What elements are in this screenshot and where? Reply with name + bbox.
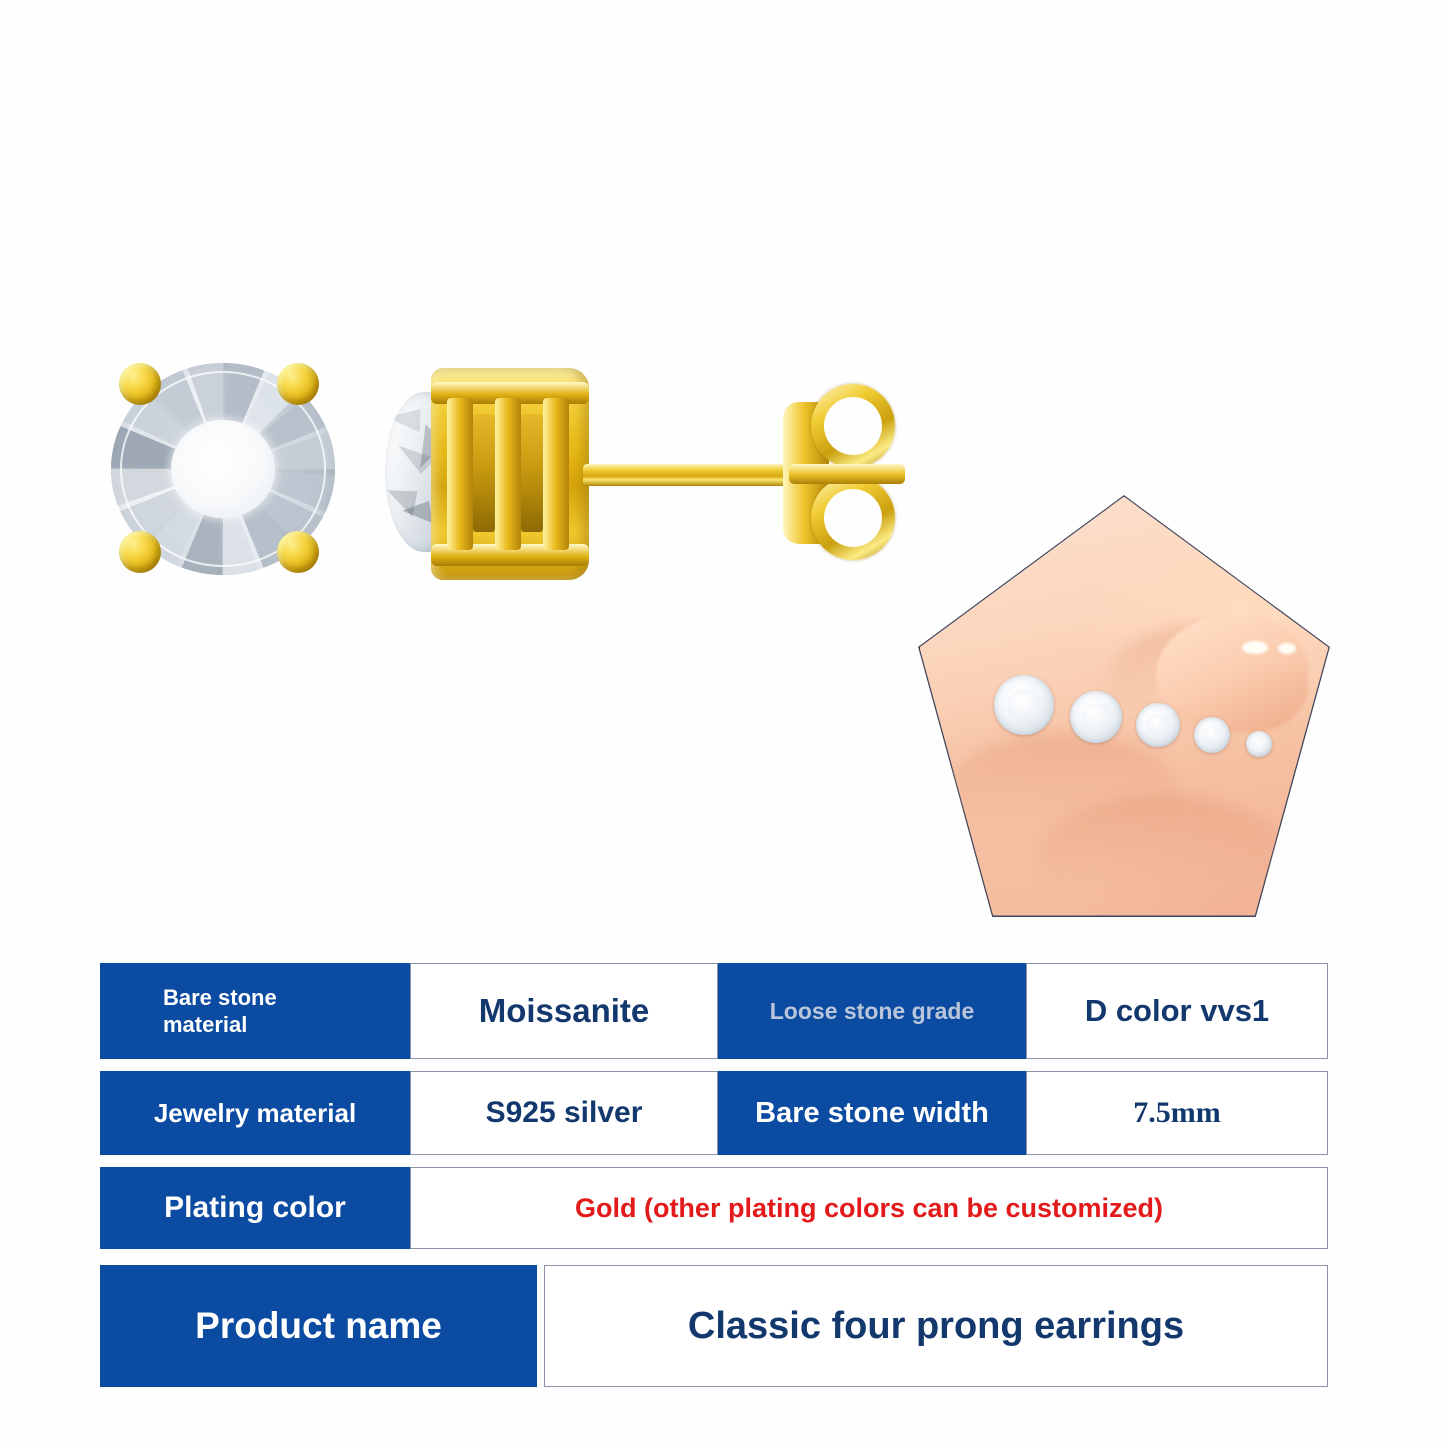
spec-label-bare-stone-width: Bare stone width <box>718 1071 1026 1155</box>
product-detail-image: Bare stone material Moissanite Loose sto… <box>0 0 1445 1445</box>
front-view-stud-image <box>97 355 349 583</box>
spec-value-bare-stone-material: Moissanite <box>410 963 718 1059</box>
spec-label-plating-color: Plating color <box>100 1167 410 1249</box>
side-view-stud-image <box>385 360 905 590</box>
spec-row-plating-color: Plating color Gold (other plating colors… <box>100 1167 1328 1249</box>
size-reference-inset <box>918 495 1330 917</box>
size-sample-stud-5 <box>1246 731 1272 757</box>
spec-label-jewelry-material: Jewelry material <box>100 1071 410 1155</box>
size-sample-stud-3 <box>1136 703 1180 747</box>
basket-void-1 <box>473 414 495 532</box>
nail-highlight-2 <box>1278 643 1296 654</box>
basket-bar-1 <box>447 398 473 550</box>
spec-row-jewelry-material: Jewelry material S925 silver Bare stone … <box>100 1071 1328 1155</box>
fingertip <box>1156 615 1308 733</box>
bare-stone-label-line2: material <box>163 1012 247 1037</box>
earring-post <box>583 464 801 486</box>
specification-table: Bare stone material Moissanite Loose sto… <box>100 963 1328 1399</box>
spec-label-bare-stone-material: Bare stone material <box>100 963 410 1059</box>
bare-stone-label-line1: Bare stone <box>163 985 277 1010</box>
prong-top-left <box>119 363 161 405</box>
spec-value-jewelry-material: S925 silver <box>410 1071 718 1155</box>
spec-value-plating-color: Gold (other plating colors can be custom… <box>410 1167 1328 1249</box>
butterfly-crossbar <box>789 464 905 484</box>
side-gem-facet <box>387 405 428 442</box>
butterfly-ring-lower <box>811 476 895 560</box>
butterfly-back <box>783 378 905 568</box>
spec-row-bare-stone: Bare stone material Moissanite Loose sto… <box>100 963 1328 1059</box>
prong-bottom-right <box>277 531 319 573</box>
butterfly-ring-upper <box>811 384 895 468</box>
spec-row-product-name: Product name Classic four prong earrings <box>100 1265 1328 1387</box>
size-sample-stud-2 <box>1070 691 1122 743</box>
product-photo-area <box>0 0 1445 940</box>
prong-top-right <box>277 363 319 405</box>
gold-basket-setting <box>431 368 589 580</box>
prong-bottom-left <box>119 531 161 573</box>
spec-value-bare-stone-width: 7.5mm <box>1026 1071 1328 1155</box>
spec-value-product-name: Classic four prong earrings <box>544 1265 1328 1387</box>
spec-label-loose-stone-grade: Loose stone grade <box>718 963 1026 1059</box>
basket-bar-3 <box>543 398 569 550</box>
basket-bar-2 <box>495 398 521 550</box>
spec-label-product-name: Product name <box>100 1265 537 1387</box>
size-sample-stud-4 <box>1194 717 1230 753</box>
spec-value-loose-stone-grade: D color vvs1 <box>1026 963 1328 1059</box>
hand-shadow-2 <box>1038 795 1288 917</box>
nail-highlight-1 <box>1242 641 1268 654</box>
size-sample-stud-1 <box>994 675 1054 735</box>
basket-void-2 <box>521 414 543 532</box>
